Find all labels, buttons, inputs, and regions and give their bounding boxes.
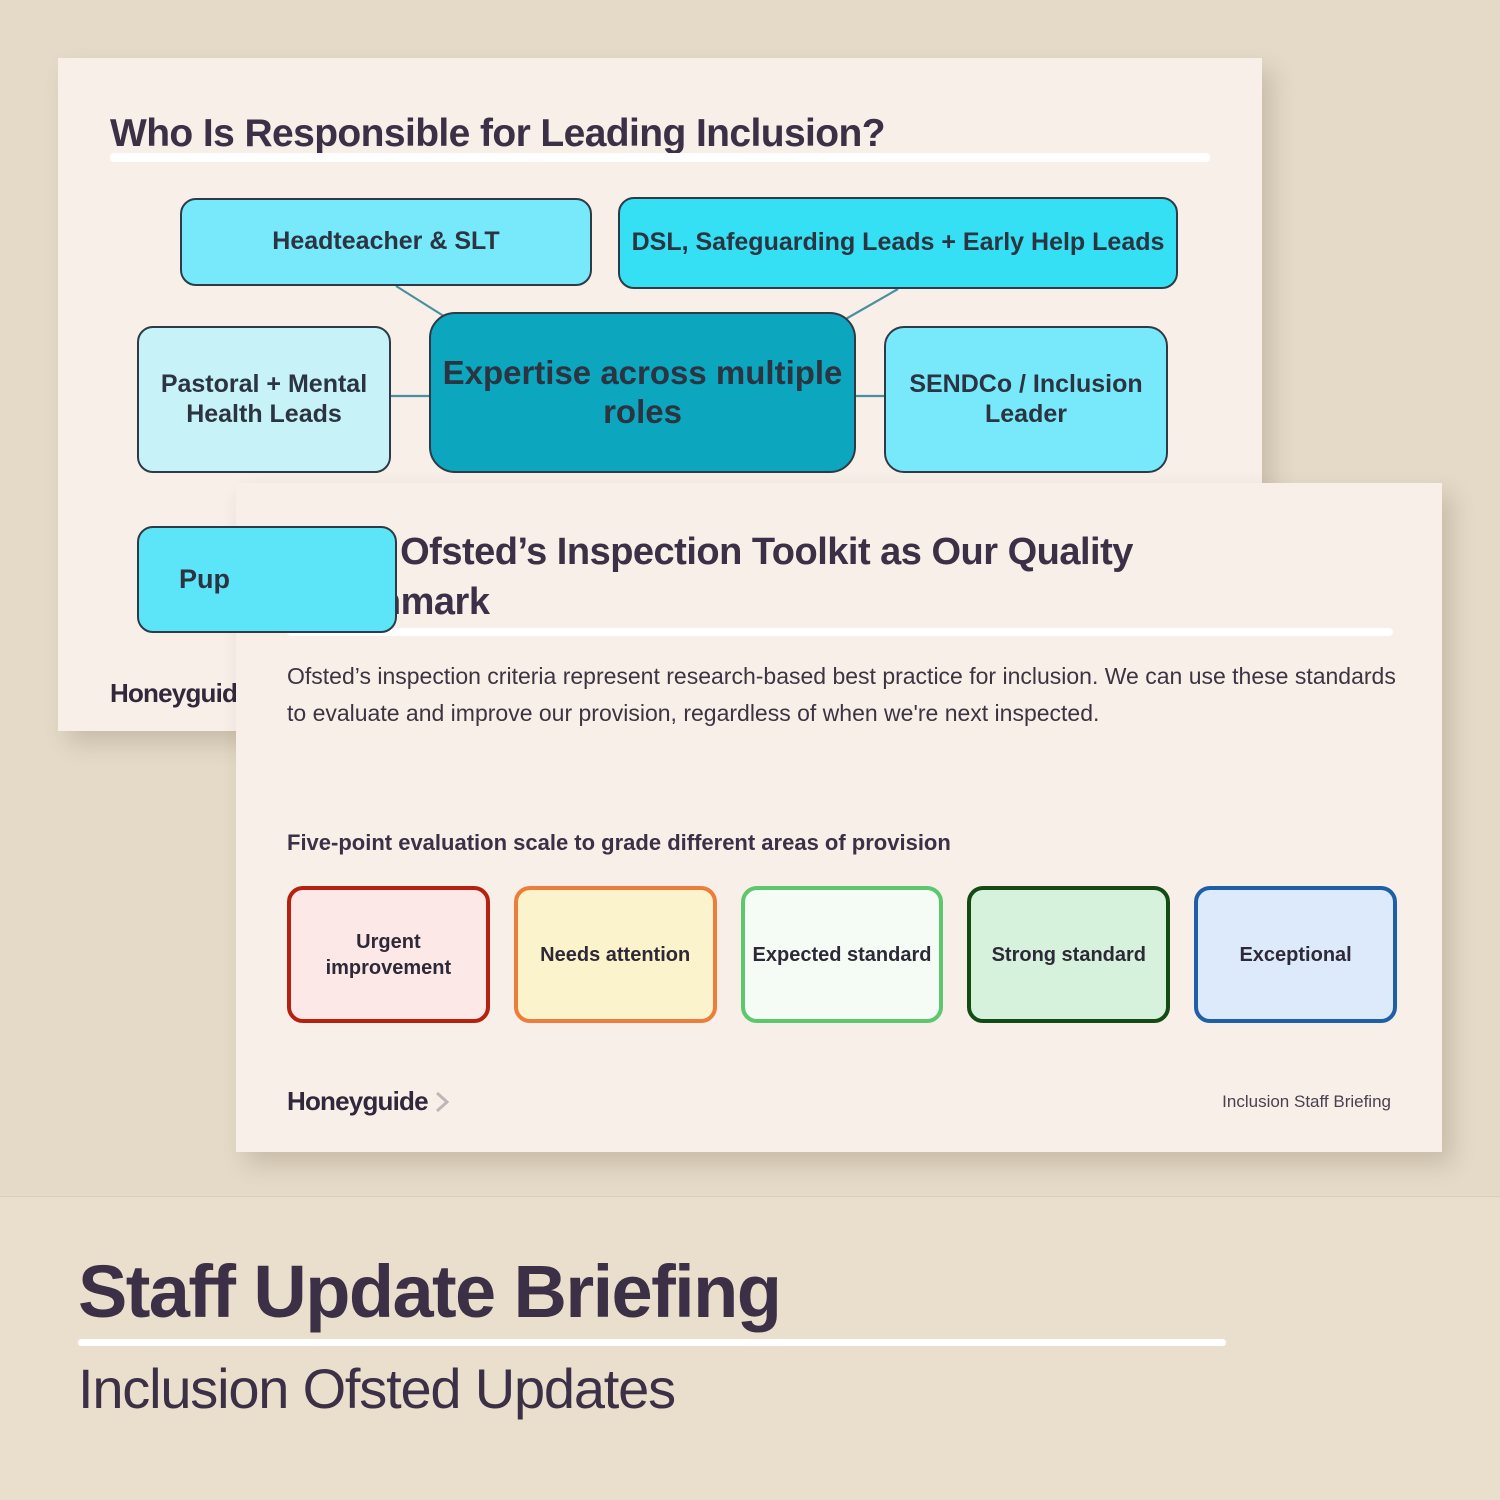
- slide-two-footer: Honeyguide Inclusion Staff Briefing: [287, 1086, 1391, 1117]
- slide-who-is-responsible[interactable]: Who Is Responsible for Leading Inclusion…: [58, 58, 1262, 731]
- scale-box-strong-standard[interactable]: Strong standard: [967, 886, 1170, 1023]
- diagram-node-sendco-inclusion-leader[interactable]: SENDCo / Inclusion Leader: [884, 326, 1168, 473]
- diagram-node-headteacher[interactable]: Headteacher & SLT: [180, 198, 592, 286]
- banner-divider-rule: [78, 1339, 1226, 1346]
- scale-caption: Five-point evaluation scale to grade dif…: [287, 830, 951, 856]
- scale-box-needs-attention[interactable]: Needs attention: [514, 886, 717, 1023]
- diagram-node-dsl-safeguarding[interactable]: DSL, Safeguarding Leads + Early Help Lea…: [618, 197, 1178, 289]
- honeyguide-logo-text: Honeyguide: [287, 1086, 428, 1117]
- scale-box-exceptional[interactable]: Exceptional: [1194, 886, 1397, 1023]
- diagram-node-pupil-occluded[interactable]: Pup: [137, 526, 397, 633]
- slide-two-footer-label: Inclusion Staff Briefing: [1222, 1092, 1391, 1112]
- bottom-banner: Staff Update Briefing Inclusion Ofsted U…: [0, 1196, 1500, 1500]
- scale-box-urgent-improvement[interactable]: Urgent improvement: [287, 886, 490, 1023]
- banner-subtitle: Inclusion Ofsted Updates: [78, 1360, 1228, 1419]
- scale-box-expected-standard[interactable]: Expected standard: [741, 886, 944, 1023]
- inclusion-roles-diagram: Headteacher & SLT DSL, Safeguarding Lead…: [58, 58, 1262, 731]
- diagram-node-pastoral-mental-health[interactable]: Pastoral + Mental Health Leads: [137, 326, 391, 473]
- diagram-node-expertise-centre[interactable]: Expertise across multiple roles: [429, 312, 856, 473]
- page-canvas: Staff Update Briefing Inclusion Ofsted U…: [0, 0, 1500, 1500]
- slide-two-footer-left: Honeyguide: [287, 1086, 449, 1117]
- five-point-scale-row: Urgent improvement Needs attention Expec…: [287, 886, 1397, 1023]
- banner-text-block: Staff Update Briefing Inclusion Ofsted U…: [78, 1255, 1228, 1419]
- honeyguide-chevron-icon: [435, 1092, 449, 1112]
- banner-title: Staff Update Briefing: [78, 1255, 1228, 1329]
